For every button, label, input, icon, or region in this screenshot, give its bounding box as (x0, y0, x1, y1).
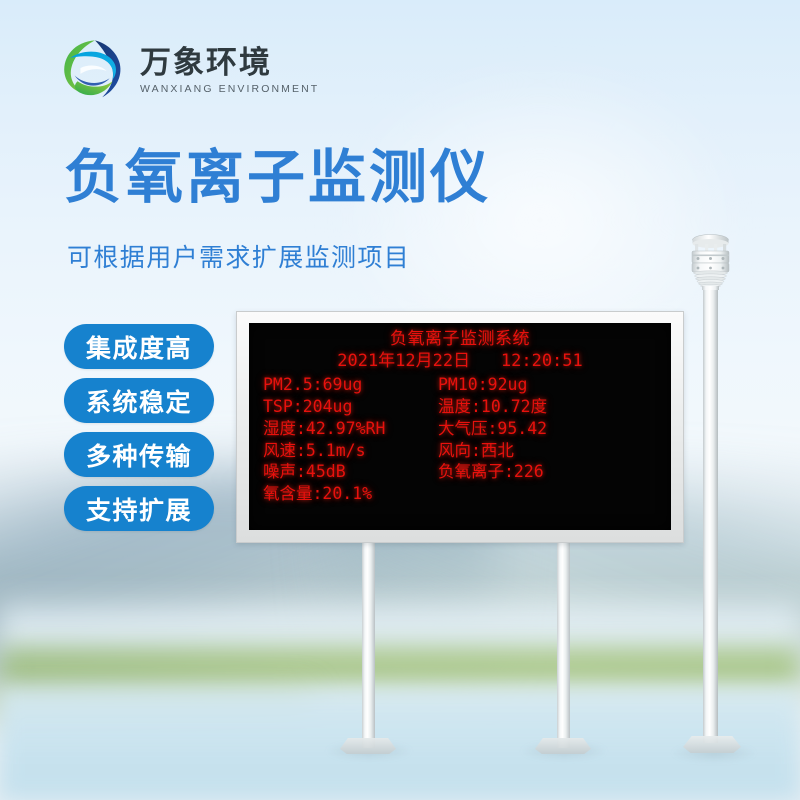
led-reading-empty (438, 483, 657, 505)
led-screen-datetime: 2021年12月22日 12:20:51 (263, 350, 657, 372)
led-date: 2021年12月22日 (337, 351, 470, 371)
billboard-pole-base-right (535, 738, 591, 754)
led-reading-pm25: PM2.5:69ug (263, 374, 438, 396)
led-screen-title: 负氧离子监测系统 (263, 329, 657, 350)
sensor-mast-pole (703, 283, 718, 743)
led-billboard: 负氧离子监测系统 2021年12月22日 12:20:51 PM2.5:69ug… (236, 311, 684, 543)
led-screen: 负氧离子监测系统 2021年12月22日 12:20:51 PM2.5:69ug… (249, 323, 671, 530)
led-reading-tsp: TSP:204ug (263, 396, 438, 418)
billboard-pole-right (557, 540, 570, 748)
led-reading-row: PM2.5:69ug PM10:92ug (263, 374, 657, 396)
brand-logo: 万象环境 WANXIANG ENVIRONMENT (58, 36, 319, 106)
billboard-pole-base-left (340, 738, 396, 754)
led-reading-row: 氧含量:20.1% (263, 483, 657, 505)
brand-name-cn: 万象环境 (140, 45, 272, 81)
background-grass-band (0, 640, 800, 694)
page-title: 负氧离子监测仪 (64, 148, 491, 206)
billboard-pole-left (362, 540, 375, 748)
led-time-spacer (480, 351, 490, 371)
feature-badge: 支持扩展 (64, 486, 214, 531)
led-readings-grid: PM2.5:69ug PM10:92ug TSP:204ug 温度:10.72度… (263, 374, 657, 505)
sensor-mast-base (683, 736, 741, 753)
ultrasonic-weather-sensor-icon (686, 232, 735, 290)
feature-badge-list: 集成度高 系统稳定 多种传输 支持扩展 (64, 324, 214, 540)
led-reading-noise: 噪声:45dB (263, 461, 438, 483)
feature-badge: 系统稳定 (64, 378, 214, 423)
led-reading-wind-speed: 风速:5.1m/s (263, 440, 438, 462)
led-time: 12:20:51 (501, 351, 583, 371)
feature-badge: 多种传输 (64, 432, 214, 477)
led-reading-humidity: 湿度:42.97%RH (263, 418, 438, 440)
page-subtitle: 可根据用户需求扩展监测项目 (67, 238, 410, 274)
led-reading-row: 风速:5.1m/s 风向:西北 (263, 440, 657, 462)
brand-name-en: WANXIANG ENVIRONMENT (140, 83, 319, 95)
led-reading-pm10: PM10:92ug (438, 374, 657, 396)
led-reading-temperature: 温度:10.72度 (438, 396, 657, 418)
globe-swirl-icon (58, 36, 132, 106)
led-reading-row: 湿度:42.97%RH 大气压:95.42 (263, 418, 657, 440)
led-reading-row: TSP:204ug 温度:10.72度 (263, 396, 657, 418)
led-reading-wind-direction: 风向:西北 (438, 440, 657, 462)
led-reading-row: 噪声:45dB 负氧离子:226 (263, 461, 657, 483)
led-reading-negative-ion: 负氧离子:226 (438, 461, 657, 483)
product-banner: 万象环境 WANXIANG ENVIRONMENT 负氧离子监测仪 可根据用户需… (0, 0, 800, 800)
led-reading-oxygen: 氧含量:20.1% (263, 483, 438, 505)
feature-badge: 集成度高 (64, 324, 214, 369)
led-reading-pressure: 大气压:95.42 (438, 418, 657, 440)
